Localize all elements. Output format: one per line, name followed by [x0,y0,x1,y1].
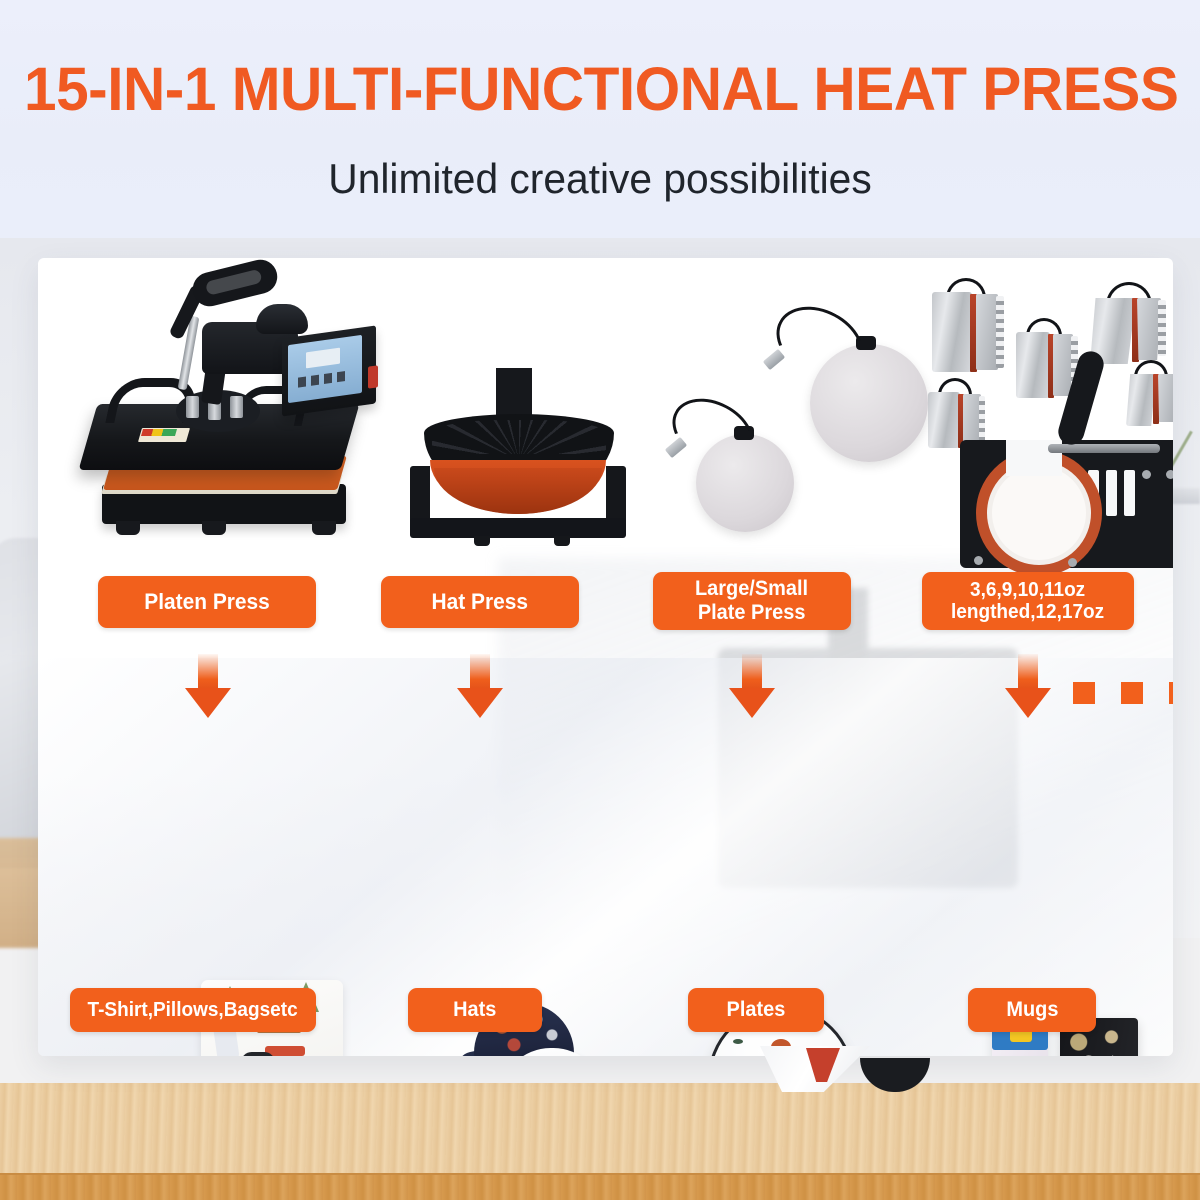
content-card: Platen Press Hat Press Large/Small Plate… [38,258,1173,1056]
pill-mug-press-label-line2: lengthed,12,17oz [951,601,1104,623]
pill-plates[interactable]: Plates [688,988,824,1032]
continuation-dot-1 [1073,682,1095,704]
continuation-dot-3 [1169,682,1173,704]
desk-edge [0,1173,1200,1200]
mug-heater-large [932,292,1008,376]
pill-plates-label: Plates [727,998,786,1022]
pill-plate-press-label-line2: Plate Press [698,601,806,625]
continuation-dot-2 [1121,682,1143,704]
mug-press-attachment [928,274,1173,574]
pill-hat-press[interactable]: Hat Press [381,576,579,628]
pill-plate-press-label-line1: Large/Small [695,577,808,601]
platen-press-machine [80,278,370,578]
page-subtitle: Unlimited creative possibilities [18,155,1182,203]
pill-hat-press-label: Hat Press [432,590,528,615]
pill-apparel[interactable]: T-Shirt,Pillows,Bagsetc [70,988,316,1032]
hat-press-attachment [408,368,638,583]
pill-mug-press-label-line1: 3,6,9,10,11oz [970,579,1085,601]
pill-plate-press[interactable]: Large/Small Plate Press [653,572,851,630]
infographic-root: 15-IN-1 MULTI-FUNCTIONAL HEAT PRESS Unli… [0,0,1200,1200]
pill-mugs[interactable]: Mugs [968,988,1096,1032]
pill-platen-press-label: Platen Press [144,590,269,615]
pill-apparel-label: T-Shirt,Pillows,Bagsetc [88,999,298,1021]
pill-mugs-label: Mugs [1006,998,1058,1022]
plate-press-attachment [678,316,928,546]
pill-hats[interactable]: Hats [408,988,542,1032]
pill-platen-press[interactable]: Platen Press [98,576,316,628]
page-title: 15-IN-1 MULTI-FUNCTIONAL HEAT PRESS [24,54,1176,124]
mug-heater-mini [1126,374,1173,440]
pill-hats-label: Hats [453,998,496,1022]
pill-mug-press[interactable]: 3,6,9,10,11oz lengthed,12,17oz [922,572,1134,630]
white-cap [490,1048,620,1056]
mug-black-brand: Gucci [1060,1052,1138,1056]
